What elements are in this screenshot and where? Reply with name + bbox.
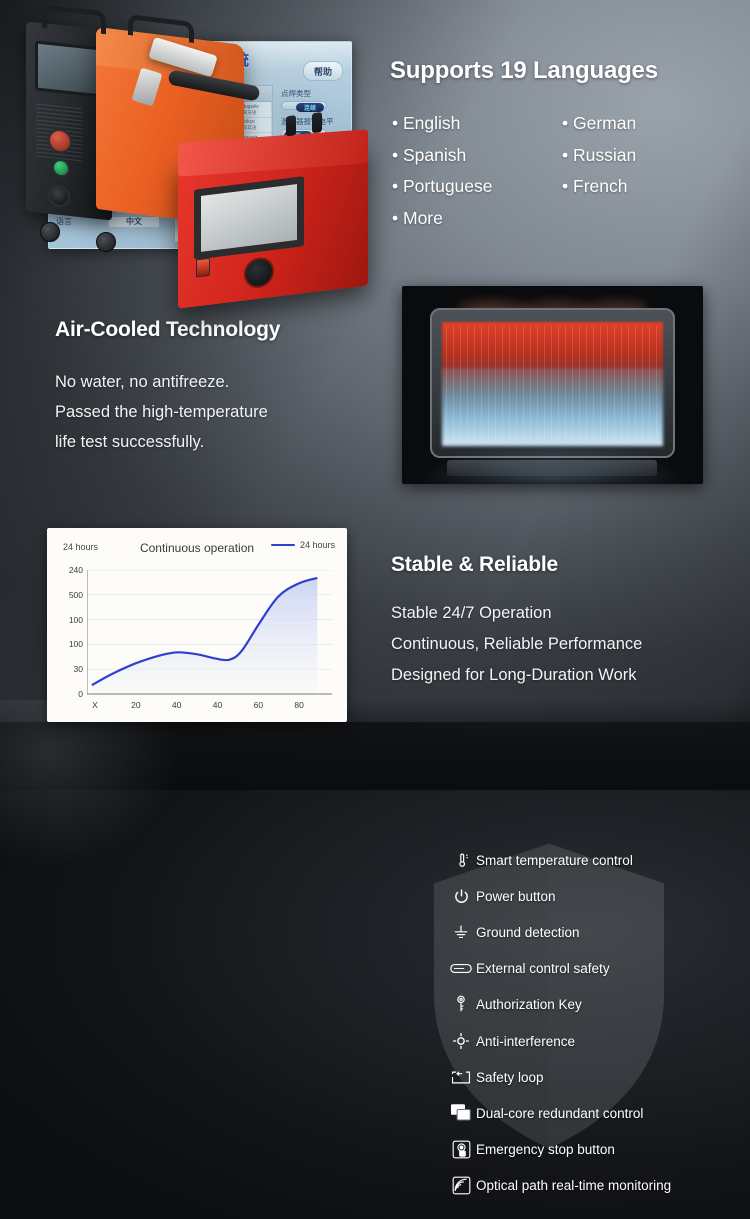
cooling-visualization-image [402, 286, 703, 484]
bullet-icon: • [562, 108, 573, 140]
bullet-icon: • [562, 171, 573, 203]
language-label: English [403, 113, 460, 133]
language-list-item: •Spanish [392, 140, 493, 172]
language-label: French [573, 176, 627, 196]
stable-line-3: Designed for Long-Duration Work [391, 660, 642, 691]
security-feature-item: Dual-core redundant control [446, 1095, 746, 1131]
crosshair-icon [446, 1029, 476, 1053]
security-feature-item: Safety loop [446, 1059, 746, 1095]
security-feature-item: Smart temperature control [446, 842, 746, 878]
air-cooled-body: No water, no antifreeze. Passed the high… [55, 367, 268, 457]
security-feature-label: Optical path real-time monitoring [476, 1178, 671, 1193]
thermometer-icon [446, 848, 476, 872]
language-label: More [403, 208, 443, 228]
bullet-icon: • [562, 140, 573, 172]
chart-x-tick: X [92, 700, 98, 710]
caster-wheel-right [96, 232, 116, 252]
chart-y-tick: 0 [78, 689, 83, 699]
air-cooled-line-1: No water, no antifreeze. [55, 367, 268, 397]
red-machine-switch [196, 258, 210, 278]
chart-y-tick: 100 [69, 615, 83, 625]
red-machine-handle-b [312, 112, 322, 133]
chart-area-fill [92, 578, 317, 694]
stable-body: Stable 24/7 Operation Continuous, Reliab… [391, 598, 642, 691]
chart-plot-area [87, 570, 332, 694]
black-unit-port [48, 184, 70, 208]
security-feature-label: Anti-interference [476, 1034, 575, 1049]
security-feature-label: Safety loop [476, 1070, 544, 1085]
chart-legend: 24 hours [271, 540, 335, 550]
air-cooled-line-2: Passed the high-temperature [55, 397, 268, 427]
language-list-item: •More [392, 203, 493, 235]
chart-x-tick: 20 [131, 700, 140, 710]
continuous-operation-chart: 24 hours Continuous operation 24 hours 2… [47, 528, 347, 722]
chart-svg [87, 570, 332, 704]
ground-icon [446, 920, 476, 944]
loop-icon [446, 1065, 476, 1089]
stable-line-2: Continuous, Reliable Performance [391, 629, 642, 660]
rounded-bar-icon [446, 957, 476, 981]
language-list-item: •English [392, 108, 493, 140]
stable-title: Stable & Reliable [391, 553, 558, 577]
stable-line-1: Stable 24/7 Operation [391, 598, 642, 629]
key-icon [446, 993, 476, 1017]
chart-y-tick: 100 [69, 639, 83, 649]
signal-wave-icon [446, 1174, 476, 1198]
chart-x-tick: 40 [172, 700, 181, 710]
language-label: Spanish [403, 145, 466, 165]
security-feature-item: Emergency stop button [446, 1132, 746, 1168]
security-feature-item: Power button [446, 878, 746, 914]
language-list-item: •Russian [562, 140, 636, 172]
security-feature-item: Authorization Key [446, 987, 746, 1023]
security-feature-item: Optical path real-time monitoring [446, 1168, 746, 1204]
chart-x-tick: 60 [254, 700, 263, 710]
air-cooled-line-3: life test successfully. [55, 427, 268, 457]
security-feature-item: Anti-interference [446, 1023, 746, 1059]
language-list-item: •French [562, 171, 636, 203]
language-list-item: •German [562, 108, 636, 140]
chart-legend-label: 24 hours [300, 540, 335, 550]
chart-y-tick: 240 [69, 565, 83, 575]
security-feature-label: Smart temperature control [476, 853, 633, 868]
security-feature-label: Ground detection [476, 925, 580, 940]
languages-column-b: •German•Russian•French [562, 108, 636, 203]
power-icon [446, 884, 476, 908]
language-list-item: •Portuguese [392, 171, 493, 203]
red-machine-touchscreen [194, 176, 304, 260]
hand-press-icon [446, 1138, 476, 1162]
security-feature-list: Smart temperature controlPower buttonGro… [446, 842, 746, 1204]
chart-y-tick: 500 [69, 590, 83, 600]
background-left-glow [0, 700, 260, 960]
red-welding-machine [178, 140, 368, 308]
dual-window-icon [446, 1101, 476, 1125]
black-unit-touchscreen [35, 40, 103, 97]
security-feature-label: Power button [476, 889, 556, 904]
chart-y-axis-labels: 240500100100300 [53, 564, 83, 700]
air-cooled-title: Air-Cooled Technology [55, 318, 280, 342]
chart-x-axis-labels: X2040406080 [87, 700, 337, 714]
green-start-button [52, 158, 70, 178]
chart-x-tick: 40 [213, 700, 222, 710]
red-machine-handle-a [286, 115, 296, 136]
security-feature-item: External control safety [446, 951, 746, 987]
red-machine-port [244, 256, 274, 290]
languages-title: Supports 19 Languages [390, 57, 658, 85]
language-label: German [573, 113, 636, 133]
language-label: Portuguese [403, 176, 493, 196]
chart-x-tick: 80 [294, 700, 303, 710]
languages-column-a: •English•Spanish•Portuguese•More [392, 108, 493, 234]
promo-page: 激光焊接系统 ⚙ 设置 帮助 激光器功率1700开气延时200关气延时200开光… [0, 0, 750, 1219]
security-feature-label: Emergency stop button [476, 1142, 615, 1157]
caster-wheel-left [40, 222, 60, 242]
language-label: Russian [573, 145, 636, 165]
security-feature-item: Ground detection [446, 914, 746, 950]
security-feature-label: Dual-core redundant control [476, 1106, 643, 1121]
security-feature-label: External control safety [476, 961, 610, 976]
chart-legend-swatch [271, 544, 295, 547]
security-feature-label: Authorization Key [476, 997, 582, 1012]
cold-mist [402, 424, 703, 484]
chart-y-tick: 30 [74, 664, 83, 674]
